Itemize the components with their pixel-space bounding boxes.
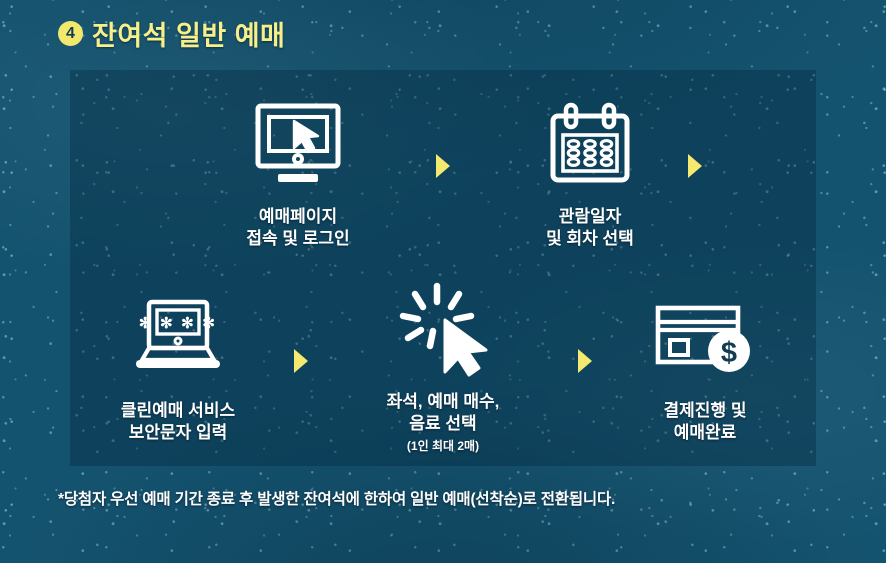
- step-caption-line1: 클린예매 서비스: [83, 400, 273, 422]
- section-number-badge: 4: [58, 21, 83, 46]
- step-caption-line2: 음료 선택: [348, 413, 538, 435]
- credit-card-dollar-icon: $: [610, 290, 800, 386]
- click-cursor-icon: [348, 281, 538, 377]
- monitor-cursor-icon: [203, 96, 393, 192]
- step-caption: 관람일자 및 회차 선택: [495, 206, 685, 251]
- laptop-password-icon: ✻ ✻ ✻ ✻: [83, 290, 273, 386]
- step-caption-line1: 결제진행 및: [610, 400, 800, 422]
- step-clean-booking-captcha: ✻ ✻ ✻ ✻ 클린예매 서비스 보안문자 입력: [83, 290, 273, 445]
- step-caption-line2: 접속 및 로그인: [203, 228, 393, 250]
- dollar-symbol: $: [721, 337, 737, 369]
- footnote-text: *당첨자 우선 예매 기간 종료 후 발생한 잔여석에 한하여 일반 예매(선착…: [58, 487, 615, 509]
- step-caption-line1: 예매페이지: [203, 206, 393, 228]
- step-select-seat-quantity-drink: 좌석, 예매 매수, 음료 선택 (1인 최대 2매): [348, 281, 538, 453]
- step-caption-line1: 관람일자: [495, 206, 685, 228]
- step-caption: 좌석, 예매 매수, 음료 선택: [348, 391, 538, 436]
- password-mask-text: ✻ ✻ ✻ ✻: [139, 315, 217, 332]
- flow-arrow-icon: [688, 154, 702, 178]
- step-caption: 결제진행 및 예매완료: [610, 400, 800, 445]
- step-subnote: (1인 최대 2매): [348, 439, 538, 453]
- calendar-icon: [495, 96, 685, 192]
- step-caption-line2: 예매완료: [610, 422, 800, 444]
- step-payment-complete: $ 결제진행 및 예매완료: [610, 290, 800, 445]
- flow-arrow-icon: [436, 154, 450, 178]
- step-select-date-session: 관람일자 및 회차 선택: [495, 96, 685, 251]
- infographic-page: 4 잔여석 일반 예매 예매페이지 접속 및 로그인: [0, 0, 886, 563]
- page-title: 4 잔여석 일반 예매: [58, 14, 285, 53]
- step-caption: 예매페이지 접속 및 로그인: [203, 206, 393, 251]
- step-caption-line2: 및 회차 선택: [495, 228, 685, 250]
- step-caption-line2: 보안문자 입력: [83, 422, 273, 444]
- flow-arrow-icon: [578, 349, 592, 373]
- flow-arrow-icon: [294, 349, 308, 373]
- step-caption-line1: 좌석, 예매 매수,: [348, 391, 538, 413]
- step-caption: 클린예매 서비스 보안문자 입력: [83, 400, 273, 445]
- step-booking-page-login: 예매페이지 접속 및 로그인: [203, 96, 393, 251]
- section-title-text: 잔여석 일반 예매: [92, 14, 285, 53]
